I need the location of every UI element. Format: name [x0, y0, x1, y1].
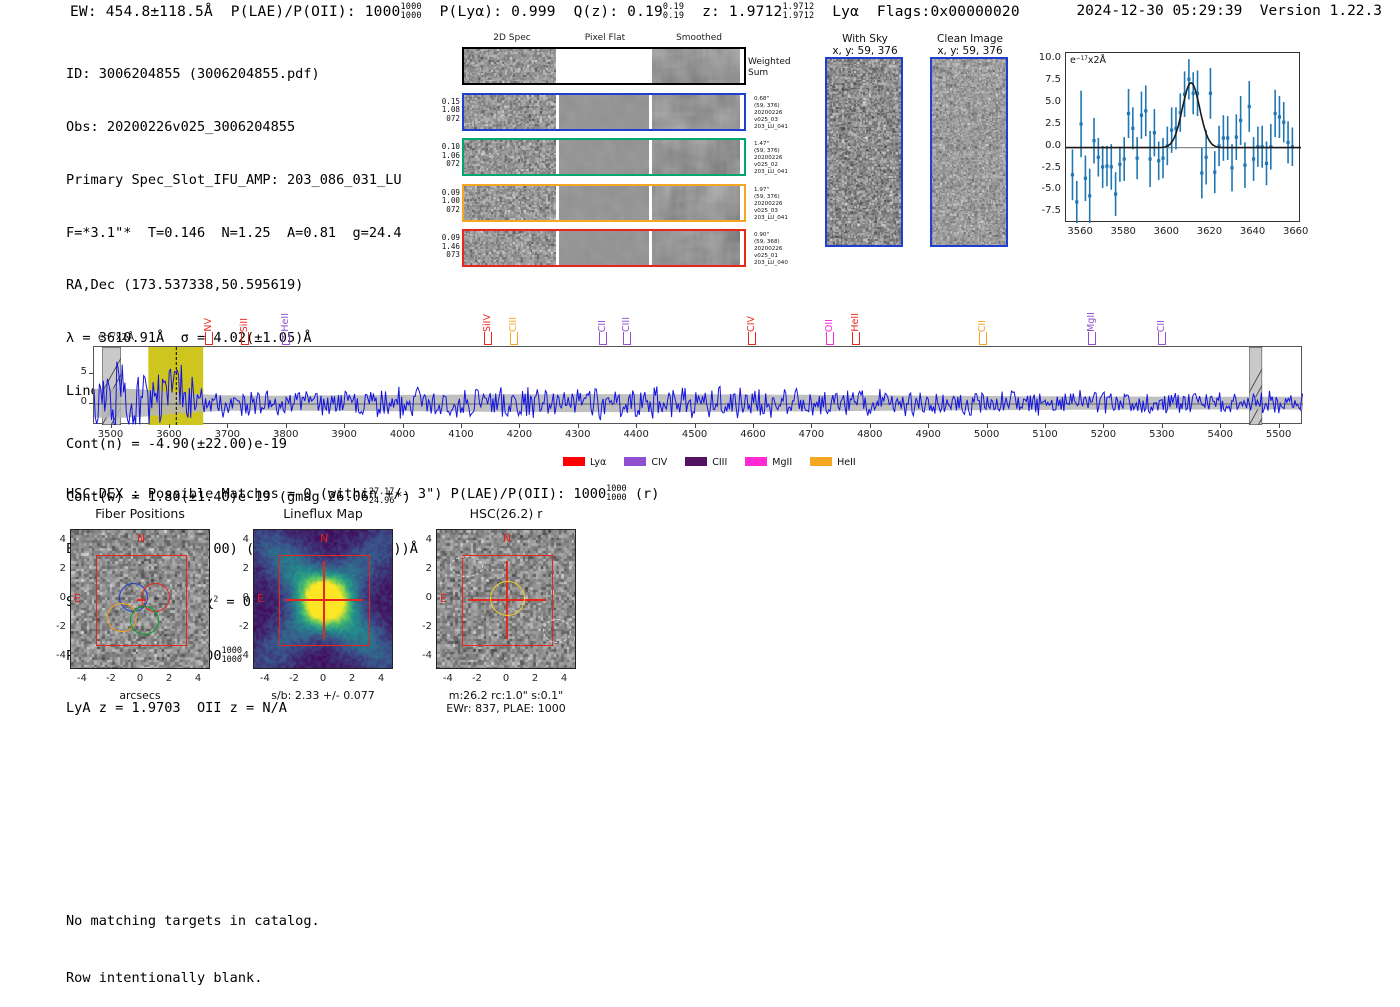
cutout-xtick: -4 — [433, 673, 463, 684]
line-marker-bracket — [484, 332, 492, 345]
fiber-1-pixelflat — [559, 95, 649, 129]
line-marker-bracket — [1088, 332, 1096, 345]
xtick-mark — [227, 424, 228, 428]
col-title-2d-spec: 2D Spec — [466, 33, 558, 43]
spectrum-xtick: 4800 — [845, 429, 895, 440]
spectrum-xtick: 3700 — [202, 429, 252, 440]
with-sky-image — [825, 57, 903, 247]
compass-north: N — [320, 532, 328, 545]
line-marker-civ-7: CIV — [746, 316, 757, 332]
cutout-xtick: 0 — [125, 673, 155, 684]
fiber-row-1-values: 0.151.08072 — [428, 98, 460, 124]
spectrum-xtick: 3500 — [86, 429, 136, 440]
cutout-coords: x, y: 59, 376 — [817, 45, 913, 57]
fiber-circle-4 — [130, 606, 159, 635]
line-marker-siii-1: SiII — [239, 318, 250, 332]
cutout-panel-title-3: HSC(26.2) r — [411, 507, 601, 520]
cutout-panel-title-1: Fiber Positions — [45, 507, 235, 520]
emission-line-axes: e−17x2Å — [1065, 52, 1300, 222]
emission-ytick: 5.0 — [1027, 96, 1061, 107]
cutout-ytick: 4 — [227, 534, 249, 545]
xtick-mark — [1220, 424, 1221, 428]
fiber-meta: v025_02 — [754, 162, 814, 169]
col-title-smoothed: Smoothed — [652, 33, 746, 43]
compass-east: E — [74, 592, 81, 605]
line-marker-bracket — [826, 332, 834, 345]
fiber-meta: 1.47" — [754, 141, 814, 148]
xtick-mark — [169, 424, 170, 428]
col-title-pixel-flat: Pixel Flat — [559, 33, 651, 43]
xtick-mark — [1103, 424, 1104, 428]
info-primary-spec: Primary Spec_Slot_IFU_AMP: 203_086_031_L… — [66, 172, 418, 190]
line-marker-cii-5: CII — [597, 320, 608, 332]
spectrum-xtick: 3600 — [144, 429, 194, 440]
fiber-4-pixelflat — [559, 231, 649, 265]
cutout-image-1: NE — [70, 529, 210, 669]
fiber-meta: 203_LU_041 — [754, 169, 814, 176]
header-plya: P(Lyα): 0.999 — [440, 4, 556, 20]
spectrum-xtick: 4000 — [378, 429, 428, 440]
xtick-mark — [344, 424, 345, 428]
emission-xtick: 3660 — [1278, 226, 1314, 237]
cutout-caption-2: s/b: 2.33 +/- 0.077 — [218, 689, 428, 702]
emission-ytick: 0.0 — [1027, 140, 1061, 151]
emission-xtick: 3560 — [1062, 226, 1098, 237]
xtick-mark — [753, 424, 754, 428]
legend-label: MgII — [772, 457, 792, 468]
legend-swatch — [745, 457, 767, 466]
spectrum-xtick: 4400 — [611, 429, 661, 440]
bottom-note-line1: No matching targets in catalog. — [66, 912, 320, 931]
with-sky-pixels — [827, 59, 901, 245]
cutout-xtick: 2 — [337, 673, 367, 684]
fiber-value: 072 — [428, 115, 460, 124]
legend-label: CIV — [651, 457, 667, 468]
full-spectrum-unit-label: e−17x2Å — [98, 332, 134, 343]
xtick-mark — [403, 424, 404, 428]
spectrum-xtick: 4900 — [903, 429, 953, 440]
line-marker-bracket — [282, 332, 290, 345]
fiber-1-2dspec — [464, 95, 556, 129]
xtick-mark — [519, 424, 520, 428]
compass-north: N — [137, 532, 145, 545]
full-spectrum-trace — [94, 347, 1303, 425]
cutout-panel-title-2: Lineflux Map — [228, 507, 418, 520]
fiber-row-3-values: 0.091.00072 — [428, 189, 460, 215]
cutout-ytick: 2 — [44, 563, 66, 574]
bottom-cutout-panels: Fiber PositionsNE-44-22002-24-4arcsecsLi… — [0, 505, 700, 735]
cutout-xtick: -4 — [67, 673, 97, 684]
spectrum-xtick: 5000 — [962, 429, 1012, 440]
fiber-meta: 20200226 — [754, 155, 814, 162]
cutout-xtick: 4 — [366, 673, 396, 684]
cutout-caption-line1: s/b: 2.33 +/- 0.077 — [218, 689, 428, 702]
cutout-ytick: -4 — [227, 650, 249, 661]
line-marker-bracket — [241, 332, 249, 345]
fiber-row-3-meta: 1.97"(59, 376)20200226v025_03203_LU_041 — [754, 187, 814, 222]
fiber-4-2dspec — [464, 231, 556, 265]
fiber-meta: v025_01 — [754, 253, 814, 260]
2d-spectra-panel: 2D Spec Pixel Flat Smoothed 0.151.080720… — [430, 33, 760, 248]
line-marker-heii-9: HeII — [850, 313, 861, 332]
header-plae-lo: 1000 — [400, 11, 421, 21]
hscdex-summary: HSC-DEX : Possible Matches = 0 (within +… — [66, 485, 659, 503]
emission-ytick: 2.5 — [1027, 118, 1061, 129]
fiber-meta: 203_LU_041 — [754, 215, 814, 222]
cutout-image-3: NE — [436, 529, 576, 669]
line-marker-heii-2: HeII — [280, 313, 291, 332]
header-summary-line: EW: 454.8±118.5Å P(LAE)/P(OII): 10001000… — [70, 3, 1020, 21]
fiber-3-2dspec — [464, 186, 556, 220]
line-marker-ciii-6: CIII — [621, 317, 632, 332]
header-plae-value: 1000 — [365, 4, 401, 20]
legend-item-mgii: MgII — [745, 457, 792, 468]
weighted-sum-label: Weighted Sum — [748, 57, 791, 78]
cutout-ytick: 0 — [410, 592, 432, 603]
fiber-2-pixelflat — [559, 140, 649, 174]
cutout-ytick: 4 — [44, 534, 66, 545]
cutout-title-2: Clean Imagex, y: 59, 376 — [922, 33, 1018, 57]
cutout-coords: x, y: 59, 376 — [922, 45, 1018, 57]
emission-ytick: 10.0 — [1027, 52, 1061, 63]
bottom-note: No matching targets in catalog. Row inte… — [66, 874, 320, 1007]
xtick-mark — [1045, 424, 1046, 428]
xtick-mark — [987, 424, 988, 428]
cutout-xtick: 4 — [549, 673, 579, 684]
cutout-ytick: 0 — [227, 592, 249, 603]
fiber-4-smoothed — [652, 231, 740, 265]
emission-ytick: -2.5 — [1027, 162, 1061, 173]
catalog-source-ellipse-2 — [543, 619, 571, 643]
spectrum-xtick: 5200 — [1078, 429, 1128, 440]
emission-xtick: 3620 — [1191, 226, 1227, 237]
fiber-meta: (59, 368) — [754, 239, 814, 246]
full-spectrum-axes: e−17x2Å — [93, 346, 1302, 424]
line-marker-bracket — [599, 332, 607, 345]
legend-swatch — [685, 457, 707, 466]
fiber-meta: v025_03 — [754, 117, 814, 124]
fiber-meta: 1.97" — [754, 187, 814, 194]
xtick-mark — [111, 424, 112, 428]
legend-swatch — [624, 457, 646, 466]
cutout-ytick: -2 — [227, 621, 249, 632]
masked-region — [1231, 347, 1303, 425]
line-marker-bracket — [1158, 332, 1166, 345]
info-obs: Obs: 20200226v025_3006204855 — [66, 119, 418, 137]
spectrum-xtick: 5300 — [1137, 429, 1187, 440]
cutout-xtick: 2 — [520, 673, 550, 684]
emission-ytick: -7.5 — [1027, 205, 1061, 216]
top-cutouts: With Skyx, y: 59, 376Clean Imagex, y: 59… — [815, 33, 1015, 248]
cutout-caption-line1: arcsecs — [35, 689, 245, 702]
fiber-row-4-meta: 0.90"(59, 368)20200226v025_01203_LU_040 — [754, 232, 814, 267]
cutout-xtick: -2 — [96, 673, 126, 684]
hscdex-filter: (r) — [635, 486, 660, 502]
crosshair-center — [317, 593, 331, 607]
legend-swatch — [810, 457, 832, 466]
cutout-name: Clean Image — [922, 33, 1018, 45]
spectrum-xtick: 5500 — [1254, 429, 1304, 440]
weighted-sum-2dspec — [464, 49, 556, 83]
weighted-sum-row — [462, 47, 746, 85]
emission-line-data — [1066, 53, 1301, 223]
line-marker-bracket — [748, 332, 756, 345]
header-timestamp-version: 2024-12-30 05:29:39 Version 1.22.3 — [1076, 3, 1382, 19]
line-marker-ciii-4: CIII — [508, 317, 519, 332]
fiber-row-2-values: 0.101.06072 — [428, 143, 460, 169]
fiber-row-2: 0.101.060721.47"(59, 376)20200226v025_02… — [462, 138, 746, 176]
fiber-meta: v025_03 — [754, 208, 814, 215]
compass-north: N — [503, 532, 511, 545]
emission-ytick: -5.0 — [1027, 183, 1061, 194]
fiber-2-2dspec — [464, 140, 556, 174]
spectrum-ytick: 5 — [69, 366, 87, 377]
fiber-1-smoothed — [652, 95, 740, 129]
clean-image — [930, 57, 1008, 247]
line-marker-cii-12: CII — [1156, 320, 1167, 332]
cutout-ytick: 4 — [410, 534, 432, 545]
header-z-lo: 1.9712 — [782, 11, 814, 21]
line-marker-bracket — [510, 332, 518, 345]
cutout-ytick: 2 — [227, 563, 249, 574]
fiber-meta: 20200226 — [754, 110, 814, 117]
emission-xtick: 3580 — [1105, 226, 1141, 237]
cutout-ytick: -4 — [44, 650, 66, 661]
cutout-xtick: 2 — [154, 673, 184, 684]
line-marker-oii-8: OII — [824, 319, 835, 332]
emission-line-plot: e−17x2Å356035803600362036403660-7.5-5.0-… — [1065, 52, 1340, 262]
xtick-mark — [578, 424, 579, 428]
xtick-mark — [636, 424, 637, 428]
fiber-row-1: 0.151.080720.68"(59, 376)20200226v025_03… — [462, 93, 746, 131]
spectrum-xtick: 5100 — [1020, 429, 1070, 440]
xtick-mark — [811, 424, 812, 428]
fiber-meta: 0.90" — [754, 232, 814, 239]
line-marker-cii-10: CII — [977, 320, 988, 332]
cutout-xtick: 0 — [308, 673, 338, 684]
emission-xtick: 3600 — [1148, 226, 1184, 237]
cutout-title-1: With Skyx, y: 59, 376 — [817, 33, 913, 57]
fiber-row-4: 0.091.460730.90"(59, 368)20200226v025_01… — [462, 229, 746, 267]
fiber-meta: 20200226 — [754, 246, 814, 253]
fiber-meta: 20200226 — [754, 201, 814, 208]
cutout-ytick: 0 — [44, 592, 66, 603]
cutout-ytick: -2 — [410, 621, 432, 632]
cutout-image-2: NE — [253, 529, 393, 669]
xtick-mark — [1279, 424, 1280, 428]
cutout-ytick: 2 — [410, 563, 432, 574]
line-marker-nv-0: NV — [203, 318, 214, 332]
fiber-value: 072 — [428, 206, 460, 215]
fiber-2-smoothed — [652, 140, 740, 174]
legend-label: HeII — [837, 457, 856, 468]
fiber-meta: 0.68" — [754, 96, 814, 103]
fiber-3-pixelflat — [559, 186, 649, 220]
header-plae-label: P(LAE)/P(OII): — [231, 4, 356, 20]
cutout-caption-line1: m:26.2 rc:1.0" s:0.1" — [401, 689, 611, 702]
xtick-mark — [870, 424, 871, 428]
header-version-text: Version 1.22.3 — [1260, 3, 1382, 19]
cutout-xtick: 0 — [491, 673, 521, 684]
fiber-meta: (59, 376) — [754, 103, 814, 110]
fiber-row-2-meta: 1.47"(59, 376)20200226v025_02203_LU_041 — [754, 141, 814, 176]
spectrum-xtick: 4200 — [494, 429, 544, 440]
compass-east: E — [257, 592, 264, 605]
fiber-row-4-values: 0.091.46073 — [428, 234, 460, 260]
spectrum-ytick: 0 — [69, 396, 87, 407]
header-qz: Q(z): 0.19 — [574, 4, 663, 20]
legend-item-heii: HeII — [810, 457, 856, 468]
clean-pixels — [932, 59, 1006, 245]
spectrum-xtick: 4300 — [553, 429, 603, 440]
cutout-ytick: -2 — [44, 621, 66, 632]
hscdex-frac-lo: 1000 — [606, 493, 626, 503]
fiber-meta: (59, 376) — [754, 148, 814, 155]
legend-label: Lyα — [590, 457, 606, 468]
line-marker-bracket — [623, 332, 631, 345]
spectrum-xtick: 4100 — [436, 429, 486, 440]
ytick-mark — [89, 373, 93, 374]
fiber-3-smoothed — [652, 186, 740, 220]
spectrum-xtick: 3800 — [261, 429, 311, 440]
cutout-caption-line2: EWr: 837, PLAE: 1000 — [401, 702, 611, 715]
fiber-meta: (59, 376) — [754, 194, 814, 201]
line-marker-bracket — [979, 332, 987, 345]
bottom-note-line2: Row intentionally blank. — [66, 969, 320, 988]
header-datetime: 2024-12-30 05:29:39 — [1076, 3, 1242, 19]
hscdex-text: HSC-DEX : Possible Matches = 0 (within +… — [66, 486, 606, 502]
header-ew: EW: 454.8±118.5Å — [70, 4, 213, 20]
cutout-xtick: -2 — [462, 673, 492, 684]
cutout-xtick: -2 — [279, 673, 309, 684]
line-marker-bracket — [205, 332, 213, 345]
xtick-mark — [286, 424, 287, 428]
info-radec: RA,Dec (173.537338,50.595619) — [66, 277, 418, 295]
xtick-mark — [461, 424, 462, 428]
ytick-mark — [89, 403, 93, 404]
fiber-meta: 203_LU_040 — [754, 260, 814, 267]
line-marker-siiv-3: SiIV — [482, 314, 493, 332]
cutout-caption-1: arcsecs — [35, 689, 245, 702]
header-z: z: 1.9712 — [702, 4, 782, 20]
line-marker-mgii-11: MgII — [1086, 312, 1097, 332]
fiber-value: 072 — [428, 160, 460, 169]
full-spectrum-panel: e−17x2Å053500360037003800390040004100420… — [93, 346, 1302, 424]
xtick-mark — [1162, 424, 1163, 428]
cutout-caption-3: m:26.2 rc:1.0" s:0.1"EWr: 837, PLAE: 100… — [401, 689, 611, 715]
cutout-xtick: 4 — [183, 673, 213, 684]
legend-item-ciii: CIII — [685, 457, 727, 468]
fiber-value: 073 — [428, 251, 460, 260]
photometric-aperture — [490, 581, 525, 616]
cutout-xtick: -4 — [250, 673, 280, 684]
spectrum-xtick: 5400 — [1195, 429, 1245, 440]
emission-ytick: 7.5 — [1027, 74, 1061, 85]
header-lya: Lyα — [832, 4, 859, 20]
line-marker-bracket — [852, 332, 860, 345]
target-marker — [137, 599, 146, 601]
spectrum-xtick: 4600 — [728, 429, 778, 440]
compass-east: E — [440, 592, 447, 605]
xtick-mark — [695, 424, 696, 428]
legend-label: CIII — [712, 457, 727, 468]
info-seeing-params: F=*3.1"* T=0.146 N=1.25 A=0.81 g=24.4 — [66, 225, 418, 243]
spectrum-legend: LyαCIVCIIIMgIIHeII — [563, 450, 874, 469]
info-id: ID: 3006204855 (3006204855.pdf) — [66, 66, 418, 84]
legend-item-civ: CIV — [624, 457, 667, 468]
header-qz-lo: 0.19 — [663, 11, 684, 21]
spectrum-xtick: 4700 — [786, 429, 836, 440]
legend-item-lyα: Lyα — [563, 457, 606, 468]
spectrum-xtick: 4500 — [670, 429, 720, 440]
catalog-source-ellipse-1 — [450, 556, 484, 577]
legend-swatch — [563, 457, 585, 466]
header-flags: Flags:0x00000020 — [877, 4, 1020, 20]
cutout-name: With Sky — [817, 33, 913, 45]
spectrum-xtick: 3900 — [319, 429, 369, 440]
fiber-row-3: 0.091.000721.97"(59, 376)20200226v025_03… — [462, 184, 746, 222]
xtick-mark — [928, 424, 929, 428]
fiber-meta: 203_LU_041 — [754, 124, 814, 131]
emission-xtick: 3640 — [1235, 226, 1271, 237]
fiber-row-1-meta: 0.68"(59, 376)20200226v025_03203_LU_041 — [754, 96, 814, 131]
cutout-ytick: -4 — [410, 650, 432, 661]
weighted-sum-smoothed — [652, 49, 740, 83]
